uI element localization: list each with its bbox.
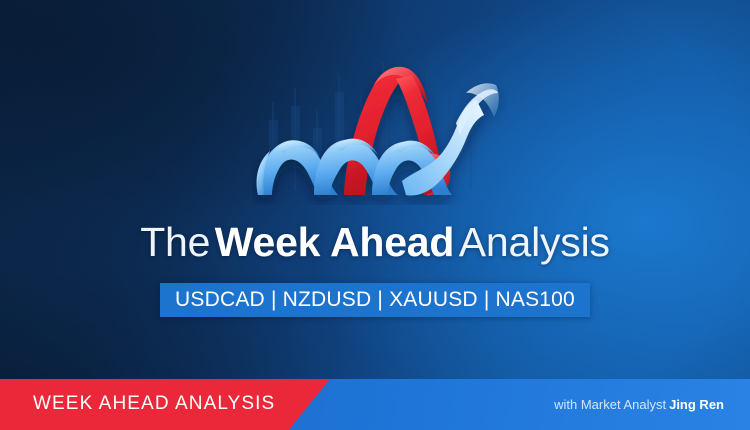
title-emphasis: Week Ahead [215, 219, 455, 265]
instruments-badge: USDCAD | NZDUSD | XAUUSD | NAS100 [160, 283, 590, 317]
title-suffix: Analysis [459, 219, 610, 265]
footer-analyst-credit: with Market AnalystJing Ren [554, 395, 724, 414]
hero-wave-arrow-graphic [252, 45, 507, 205]
footer-bar: WEEK AHEAD ANALYSIS with Market AnalystJ… [0, 379, 750, 430]
title-prefix: The [140, 219, 210, 265]
footer-banner-label: WEEK AHEAD ANALYSIS [33, 392, 275, 416]
instruments-list: USDCAD | NZDUSD | XAUUSD | NAS100 [175, 288, 575, 311]
page-title: The Week Ahead Analysis [0, 218, 750, 266]
instruments-bar-wrapper: USDCAD | NZDUSD | XAUUSD | NAS100 [0, 283, 750, 317]
analyst-name: Jing Ren [669, 397, 724, 412]
week-ahead-analysis-banner: The Week Ahead Analysis USDCAD | NZDUSD … [0, 0, 750, 430]
analyst-prefix-label: with Market Analyst [554, 397, 666, 412]
